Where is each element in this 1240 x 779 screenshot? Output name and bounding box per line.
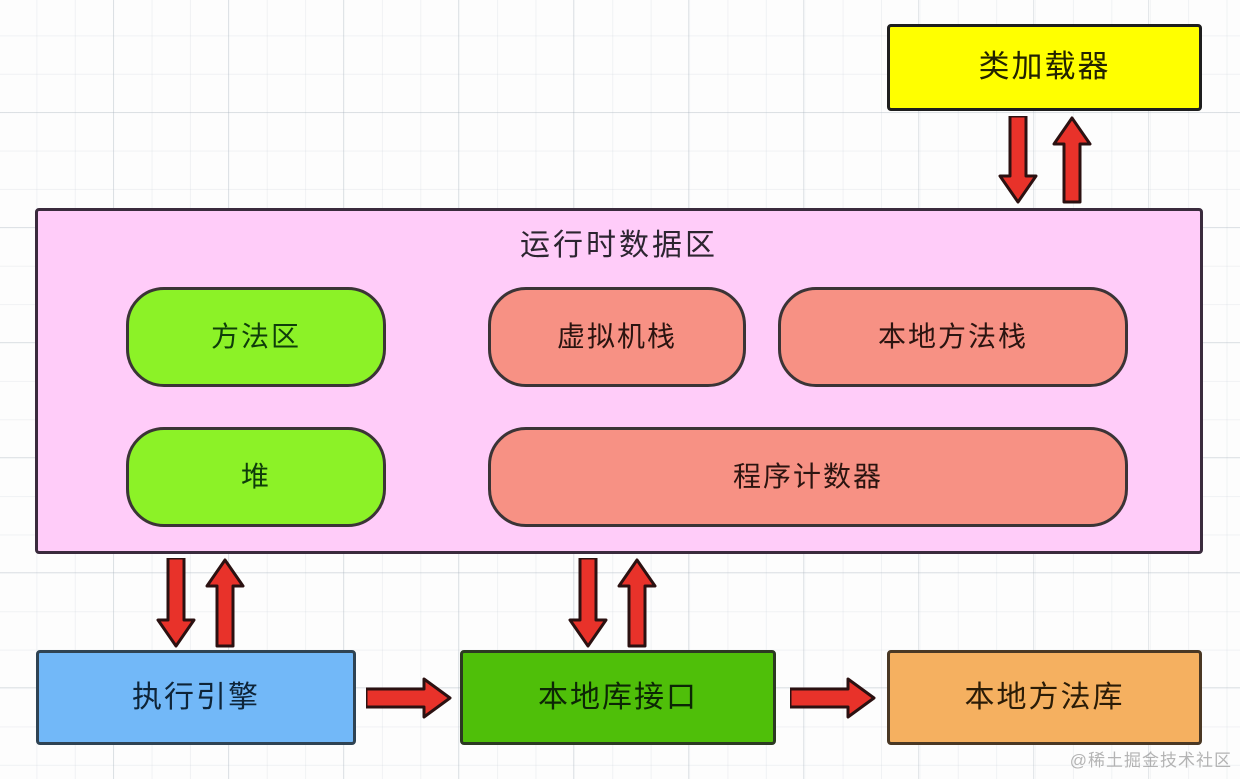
native-library-interface-label: 本地库接口 — [538, 681, 698, 714]
region-heap-label: 堆 — [241, 462, 271, 493]
arrow-exec-engine-to-native-iface — [366, 675, 452, 721]
arrow-runtime-to-native-iface-down — [568, 558, 608, 648]
execution-engine-box[interactable]: 执行引擎 — [36, 650, 356, 745]
runtime-data-area-title: 运行时数据区 — [38, 229, 1200, 262]
arrow-native-iface-to-runtime-up — [617, 558, 657, 648]
arrow-native-iface-to-method-lib — [790, 675, 876, 721]
region-vm-stack-label: 虚拟机栈 — [557, 322, 677, 353]
watermark-text: @稀土掘金技术社区 — [1070, 746, 1232, 771]
arrow-exec-engine-to-runtime-up — [205, 558, 245, 648]
class-loader-box[interactable]: 类加载器 — [887, 24, 1202, 111]
native-library-interface-box[interactable]: 本地库接口 — [460, 650, 776, 745]
arrow-runtime-to-exec-engine-down — [156, 558, 196, 648]
region-heap[interactable]: 堆 — [126, 427, 386, 527]
runtime-data-area-box[interactable]: 运行时数据区 方法区 虚拟机栈 本地方法栈 堆 程序计数器 — [35, 208, 1203, 554]
native-method-library-box[interactable]: 本地方法库 — [887, 650, 1202, 745]
arrow-class-loader-to-runtime-down — [998, 116, 1038, 204]
region-program-counter[interactable]: 程序计数器 — [488, 427, 1128, 527]
region-method-area[interactable]: 方法区 — [126, 287, 386, 387]
region-native-method-stack-label: 本地方法栈 — [878, 322, 1028, 353]
region-vm-stack[interactable]: 虚拟机栈 — [488, 287, 746, 387]
native-method-library-label: 本地方法库 — [965, 681, 1125, 714]
region-method-area-label: 方法区 — [211, 322, 301, 353]
region-program-counter-label: 程序计数器 — [733, 462, 883, 493]
arrow-runtime-to-class-loader-up — [1052, 116, 1092, 204]
diagram-canvas: 类加载器 运行时数据区 方法区 虚拟机栈 本地方法栈 堆 程序计数器 — [0, 0, 1240, 779]
execution-engine-label: 执行引擎 — [132, 681, 260, 714]
region-native-method-stack[interactable]: 本地方法栈 — [778, 287, 1128, 387]
class-loader-label: 类加载器 — [979, 50, 1111, 84]
